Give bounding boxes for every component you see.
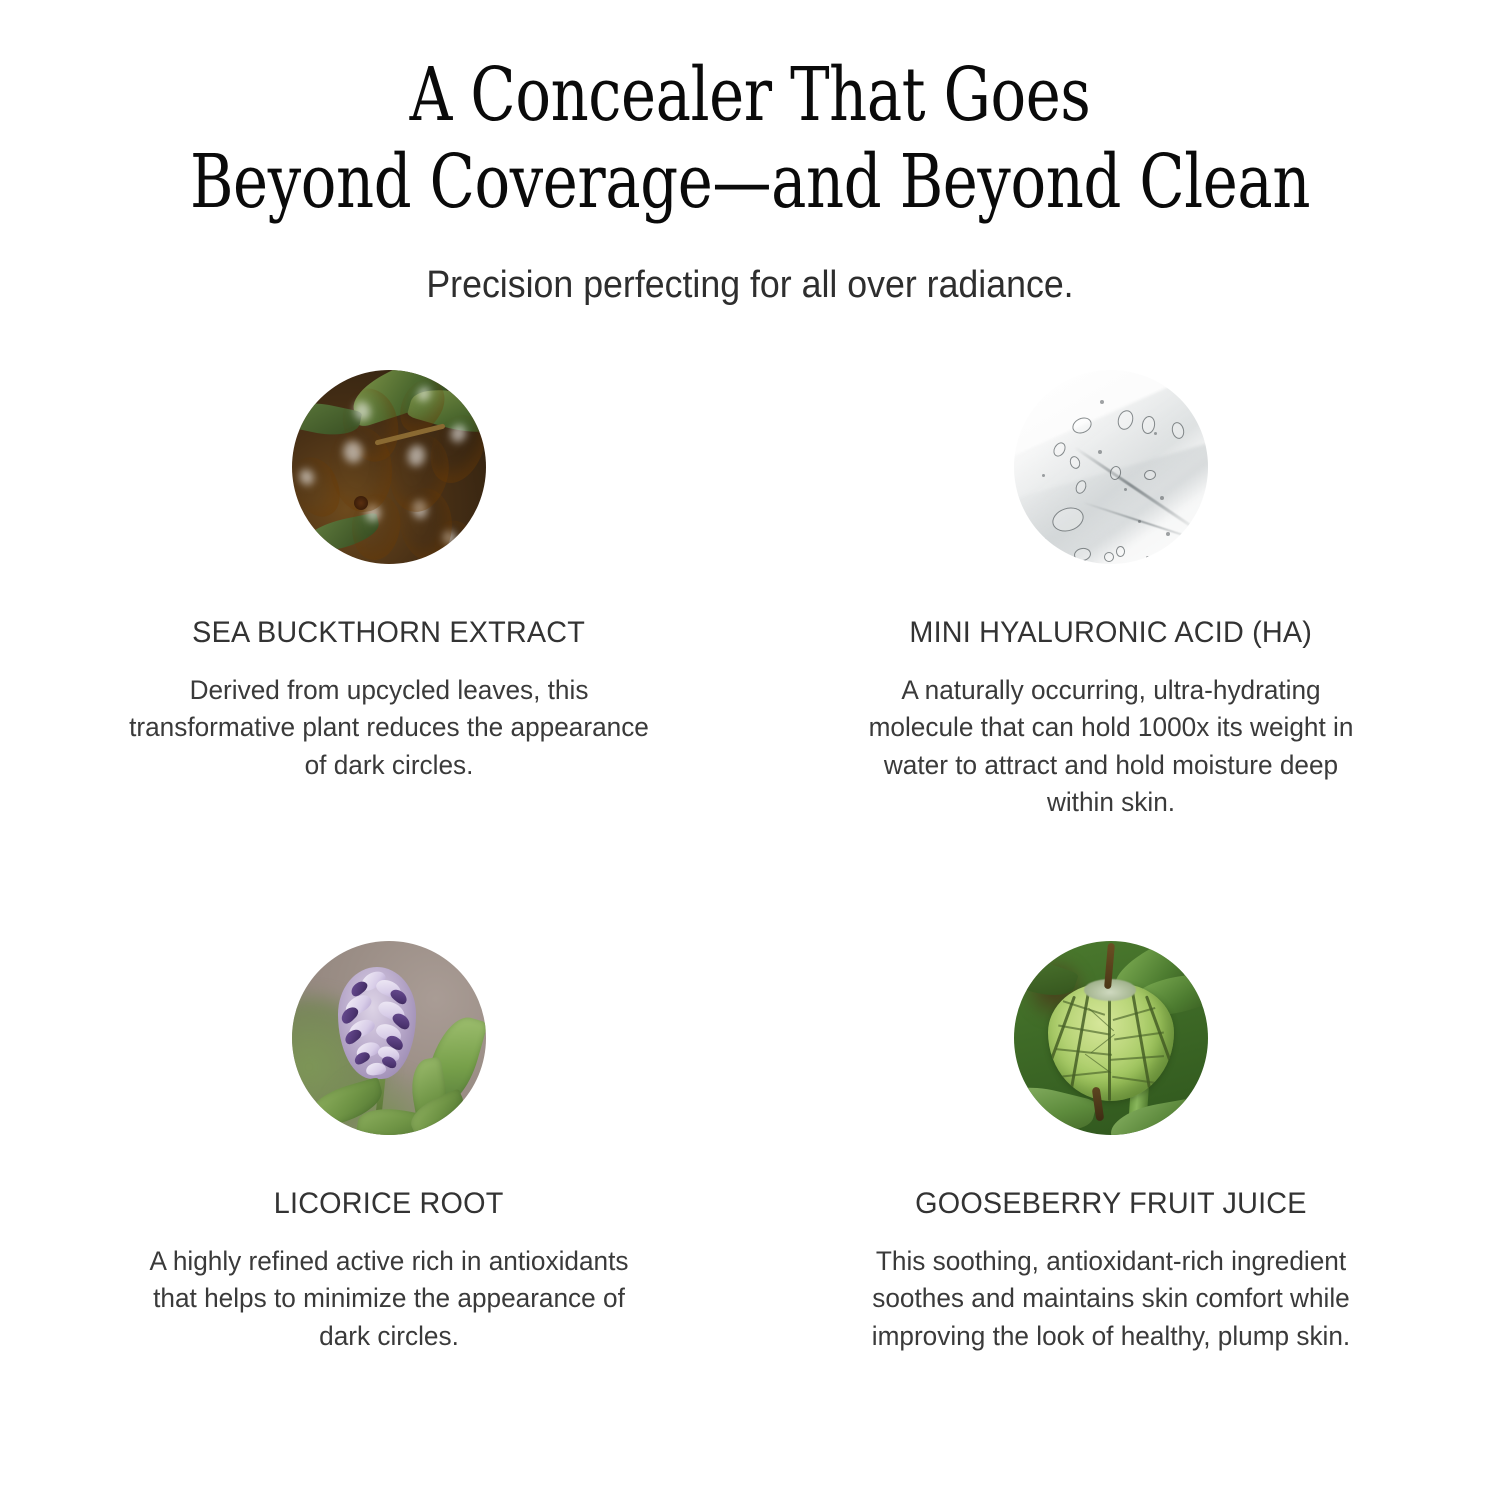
sea-buckthorn-berries-image	[292, 370, 486, 564]
ingredient-card-gooseberry: GOOSEBERRY FRUIT JUICE This soothing, an…	[750, 941, 1500, 1355]
ingredient-title: MINI HYALURONIC ACID (HA)	[910, 564, 1313, 650]
hyaluronic-acid-gel-image	[1014, 370, 1208, 564]
page-title: A Concealer That Goes Beyond Coverage—an…	[150, 52, 1350, 225]
ingredient-card-hyaluronic-acid: MINI HYALURONIC ACID (HA) A naturally oc…	[750, 370, 1500, 821]
ingredient-infographic-page: A Concealer That Goes Beyond Coverage—an…	[0, 0, 1500, 1500]
licorice-root-flower-image	[292, 941, 486, 1135]
ingredient-description: A naturally occurring, ultra-hydrating m…	[848, 650, 1374, 821]
ingredient-card-licorice-root: LICORICE ROOT A highly refined active ri…	[0, 941, 750, 1355]
ingredient-description: A highly refined active rich in antioxid…	[126, 1221, 652, 1355]
ingredient-grid: SEA BUCKTHORN EXTRACT Derived from upcyc…	[0, 370, 1500, 1355]
ingredient-title: SEA BUCKTHORN EXTRACT	[193, 564, 586, 650]
ingredient-title: GOOSEBERRY FRUIT JUICE	[915, 1135, 1307, 1221]
ingredient-card-sea-buckthorn: SEA BUCKTHORN EXTRACT Derived from upcyc…	[0, 370, 750, 821]
ingredient-title: LICORICE ROOT	[274, 1135, 504, 1221]
gooseberry-fruit-image	[1014, 941, 1208, 1135]
flower-spike	[338, 967, 416, 1079]
page-header: A Concealer That Goes Beyond Coverage—an…	[0, 0, 1500, 309]
ingredient-description: This soothing, antioxidant-rich ingredie…	[848, 1221, 1374, 1355]
ingredient-description: Derived from upcycled leaves, this trans…	[126, 650, 652, 784]
page-subtitle: Precision perfecting for all over radian…	[45, 225, 1455, 309]
